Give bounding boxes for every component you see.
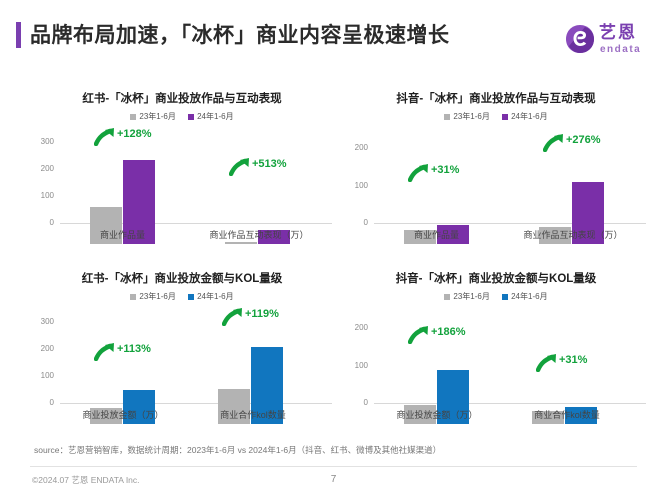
- logo-chinese-name: 艺恩: [599, 24, 637, 42]
- chart-legend: 23年1-6月 24年1-6月: [336, 111, 656, 122]
- legend-item-curr: 24年1-6月: [502, 291, 547, 302]
- y-tick-200: 200: [336, 324, 368, 332]
- legend-item-curr: 24年1-6月: [502, 111, 547, 122]
- y-tick-300: 300: [22, 138, 54, 146]
- y-tick-200: 200: [22, 345, 54, 353]
- legend-swatch-curr: [188, 114, 194, 120]
- growth-arrow-icon-g2: [543, 132, 565, 152]
- growth-arrow-icon-g1: [408, 324, 430, 344]
- chart-title: 红书-「冰杯」商业投放作品与互动表现: [22, 90, 342, 106]
- legend-swatch-curr: [502, 114, 508, 120]
- y-tick-0: 0: [22, 219, 54, 227]
- y-tick-200: 200: [22, 165, 54, 173]
- y-tick-0: 0: [22, 399, 54, 407]
- y-tick-0: 0: [336, 219, 368, 227]
- legend-label-curr: 24年1-6月: [511, 112, 547, 121]
- endata-e-logo-icon: [565, 24, 595, 54]
- legend-swatch-prev: [130, 294, 136, 300]
- chart-legend: 23年1-6月 24年1-6月: [22, 291, 342, 302]
- x-axis-label-g2: 商业作品互动表现（万）: [508, 228, 638, 241]
- y-tick-300: 300: [22, 318, 54, 326]
- brand-logo: 艺恩 endata: [565, 20, 651, 60]
- x-axis-label-g2: 商业合作kol数量: [194, 408, 312, 421]
- growth-arrow-icon-g1: [94, 341, 116, 361]
- chart-title: 抖音-「冰杯」商业投放金额与KOL量级: [336, 270, 656, 286]
- title-accent-bar: [16, 22, 21, 48]
- plot-area: 300 200 100 0 +128% +513% 商业作品量 商业作品互动表现…: [22, 126, 342, 244]
- legend-label-prev: 23年1-6月: [453, 112, 489, 121]
- legend-label-prev: 23年1-6月: [139, 112, 175, 121]
- plot-area: 300 200 100 0 +113% +119% 商业投放金额（万） 商业合作…: [22, 306, 342, 424]
- y-tick-100: 100: [22, 192, 54, 200]
- growth-arrow-icon-g1: [94, 126, 116, 146]
- legend-swatch-curr: [188, 294, 194, 300]
- legend-label-curr: 24年1-6月: [197, 112, 233, 121]
- y-tick-100: 100: [22, 372, 54, 380]
- growth-arrow-icon-g2: [222, 306, 244, 326]
- growth-label-g1: +128%: [117, 128, 152, 140]
- slide-header: 品牌布局加速，「冰杯」商业内容呈极速增长 艺恩 endata: [0, 0, 667, 68]
- footer-divider: [30, 466, 637, 467]
- chart-title: 红书-「冰杯」商业投放金额与KOL量级: [22, 270, 342, 286]
- chart-card-douyin-works: 抖音-「冰杯」商业投放作品与互动表现 23年1-6月 24年1-6月 200 1…: [336, 78, 656, 256]
- growth-label-g1: +113%: [117, 343, 151, 355]
- growth-label-g2: +119%: [245, 308, 279, 320]
- legend-label-prev: 23年1-6月: [453, 292, 489, 301]
- logo-english-name: endata: [600, 44, 641, 55]
- y-tick-100: 100: [336, 362, 368, 370]
- plot-area: 200 100 0 +31% +276% 商业作品量 商业作品互动表现（万）: [336, 126, 656, 244]
- charts-grid: 红书-「冰杯」商业投放作品与互动表现 23年1-6月 24年1-6月 300 2…: [0, 74, 667, 434]
- chart-card-douyin-amount: 抖音-「冰杯」商业投放金额与KOL量级 23年1-6月 24年1-6月 200 …: [336, 258, 656, 436]
- legend-swatch-prev: [444, 114, 450, 120]
- legend-item-curr: 24年1-6月: [188, 111, 233, 122]
- page-title: 品牌布局加速，「冰杯」商业内容呈极速增长: [30, 19, 450, 49]
- growth-label-g2: +276%: [566, 134, 601, 146]
- y-tick-200: 200: [336, 144, 368, 152]
- chart-legend: 23年1-6月 24年1-6月: [22, 111, 342, 122]
- x-axis-label-g1: 商业作品量: [70, 228, 175, 241]
- growth-label-g1: +186%: [431, 326, 466, 338]
- x-axis-label-g1: 商业作品量: [384, 228, 489, 241]
- x-axis-line: [374, 403, 646, 404]
- growth-arrow-icon-g2: [229, 156, 251, 176]
- x-axis-label-g1: 商业投放金额（万）: [62, 408, 184, 421]
- legend-item-prev: 23年1-6月: [444, 111, 489, 122]
- legend-item-prev: 23年1-6月: [130, 291, 175, 302]
- x-axis-label-g2: 商业合作kol数量: [508, 408, 626, 421]
- legend-swatch-prev: [444, 294, 450, 300]
- legend-item-prev: 23年1-6月: [444, 291, 489, 302]
- growth-label-g2: +513%: [252, 158, 287, 170]
- growth-arrow-icon-g1: [408, 162, 430, 182]
- legend-label-prev: 23年1-6月: [139, 292, 175, 301]
- growth-arrow-icon-g2: [536, 352, 558, 372]
- legend-label-curr: 24年1-6月: [511, 292, 547, 301]
- legend-item-prev: 23年1-6月: [130, 111, 175, 122]
- y-tick-0: 0: [336, 399, 368, 407]
- x-axis-line: [60, 403, 332, 404]
- bar-prev-g2: [225, 242, 257, 244]
- chart-card-xiaohongshu-works: 红书-「冰杯」商业投放作品与互动表现 23年1-6月 24年1-6月 300 2…: [22, 78, 342, 256]
- y-tick-100: 100: [336, 182, 368, 190]
- chart-card-xiaohongshu-amount: 红书-「冰杯」商业投放金额与KOL量级 23年1-6月 24年1-6月 300 …: [22, 258, 342, 436]
- chart-title: 抖音-「冰杯」商业投放作品与互动表现: [336, 90, 656, 106]
- x-axis-label-g1: 商业投放金额（万）: [376, 408, 498, 421]
- legend-swatch-curr: [502, 294, 508, 300]
- x-axis-line: [374, 223, 646, 224]
- legend-item-curr: 24年1-6月: [188, 291, 233, 302]
- legend-label-curr: 24年1-6月: [197, 292, 233, 301]
- page-number: 7: [0, 474, 667, 485]
- growth-label-g2: +31%: [559, 354, 587, 366]
- plot-area: 200 100 0 +186% +31% 商业投放金额（万） 商业合作kol数量: [336, 306, 656, 424]
- source-note: source：艺恩营销智库，数据统计周期：2023年1-6月 vs 2024年1…: [34, 444, 441, 456]
- x-axis-label-g2: 商业作品互动表现（万）: [194, 228, 324, 241]
- legend-swatch-prev: [130, 114, 136, 120]
- chart-legend: 23年1-6月 24年1-6月: [336, 291, 656, 302]
- growth-label-g1: +31%: [431, 164, 459, 176]
